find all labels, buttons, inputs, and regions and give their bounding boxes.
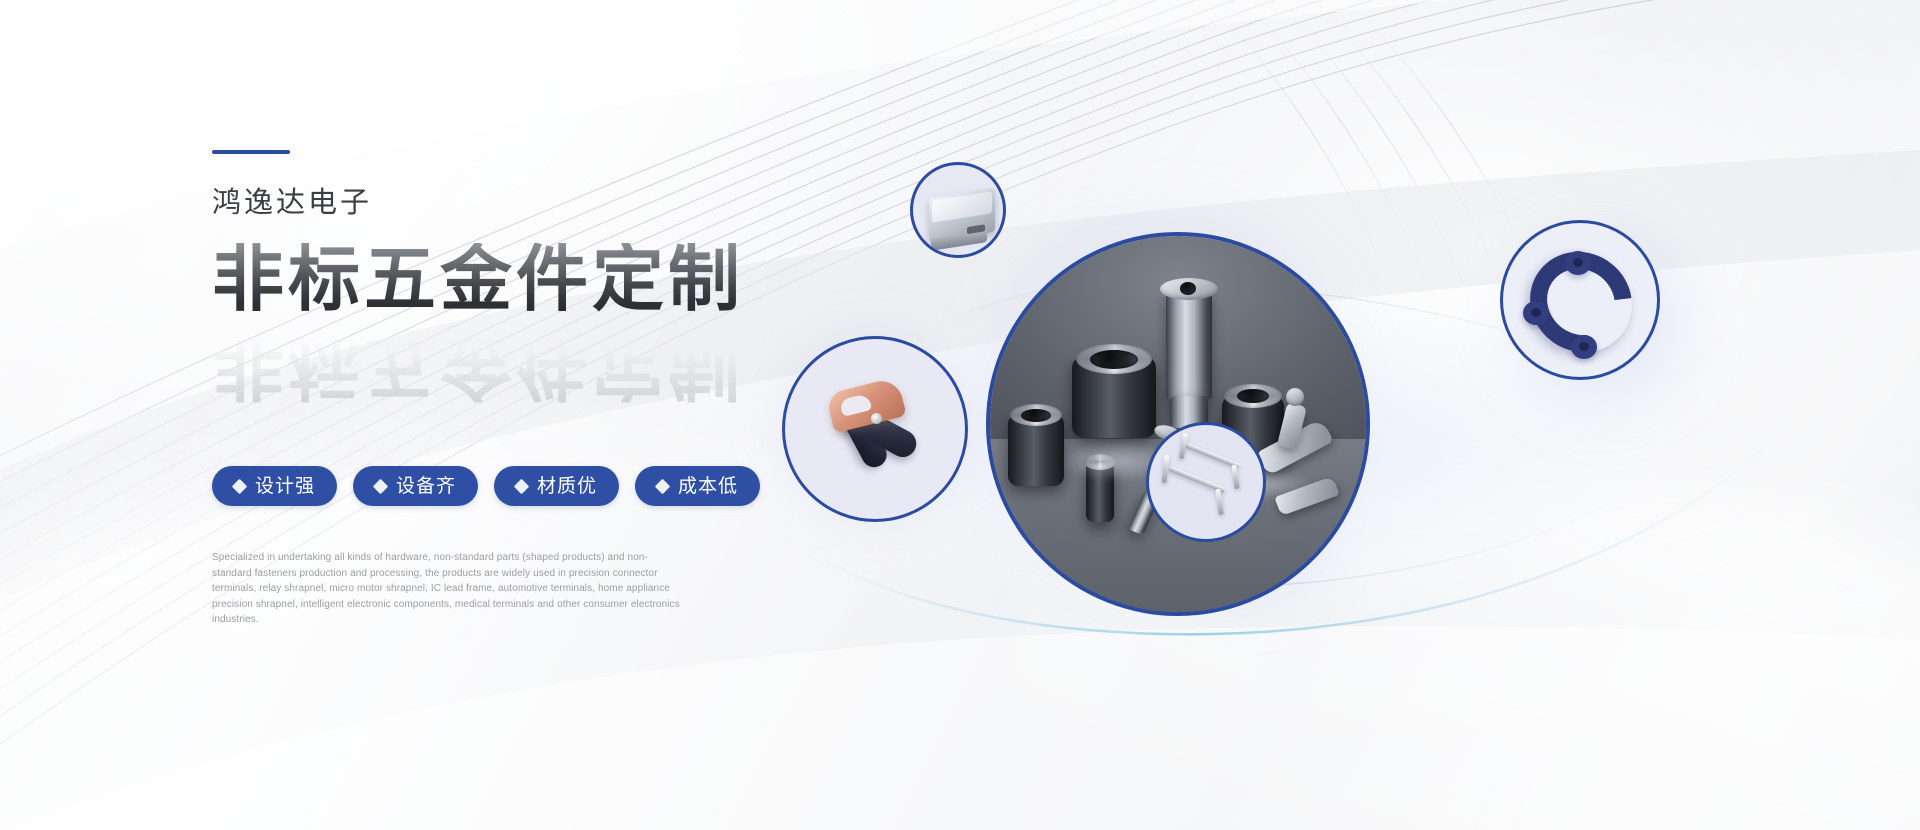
part-right-socket-bore bbox=[1237, 389, 1269, 403]
feature-badge-list: 设计强 设备齐 材质优 成本低 bbox=[212, 466, 760, 506]
housing-lid bbox=[932, 191, 992, 223]
badge-label: 材质优 bbox=[537, 477, 597, 496]
part-cylinder-bore bbox=[1180, 282, 1196, 295]
parts-photo-backdrop bbox=[990, 236, 1366, 612]
part-tall-cylinder bbox=[1166, 292, 1212, 400]
badge-label: 成本低 bbox=[678, 477, 738, 496]
product-composition bbox=[740, 120, 1820, 660]
badge-equipment[interactable]: 设备齐 bbox=[353, 466, 478, 506]
diamond-icon bbox=[514, 478, 530, 494]
part-left-connector-bore bbox=[1021, 409, 1051, 422]
circle-battery-clamp[interactable] bbox=[782, 336, 968, 522]
company-description: Specialized in undertaking all kinds of … bbox=[212, 550, 682, 628]
diamond-icon bbox=[655, 478, 671, 494]
badge-label: 设备齐 bbox=[396, 477, 456, 496]
hero-banner: 鸿逸达电子 非标五金件定制 非标五金件定制 设计强 设备齐 材质优 成本低 Sp… bbox=[0, 0, 1920, 830]
diamond-icon bbox=[232, 478, 248, 494]
ring-lug-left bbox=[1523, 301, 1549, 325]
badge-material[interactable]: 材质优 bbox=[494, 466, 619, 506]
circle-metal-housing-box[interactable] bbox=[910, 162, 1006, 258]
clamp-pivot-pin bbox=[871, 413, 882, 424]
metal-housing bbox=[929, 188, 995, 242]
badge-design[interactable]: 设计强 bbox=[212, 466, 337, 506]
circle-precision-metal-parts[interactable] bbox=[986, 232, 1370, 616]
accent-bar bbox=[212, 150, 290, 154]
diamond-icon bbox=[373, 478, 389, 494]
circle-retaining-ring[interactable] bbox=[1500, 220, 1660, 380]
ring-lug-bottom bbox=[1571, 335, 1597, 359]
headline-reflection: 非标五金件定制 bbox=[212, 327, 744, 403]
badge-label: 设计强 bbox=[255, 477, 315, 496]
part-socket-bore bbox=[1090, 350, 1138, 369]
hex-key-tip-2 bbox=[1231, 465, 1239, 489]
circle-hex-keys[interactable] bbox=[1146, 422, 1266, 542]
housing-side bbox=[931, 230, 987, 251]
ring-lug-top bbox=[1565, 251, 1591, 275]
part-bracket-stud bbox=[1286, 388, 1304, 406]
